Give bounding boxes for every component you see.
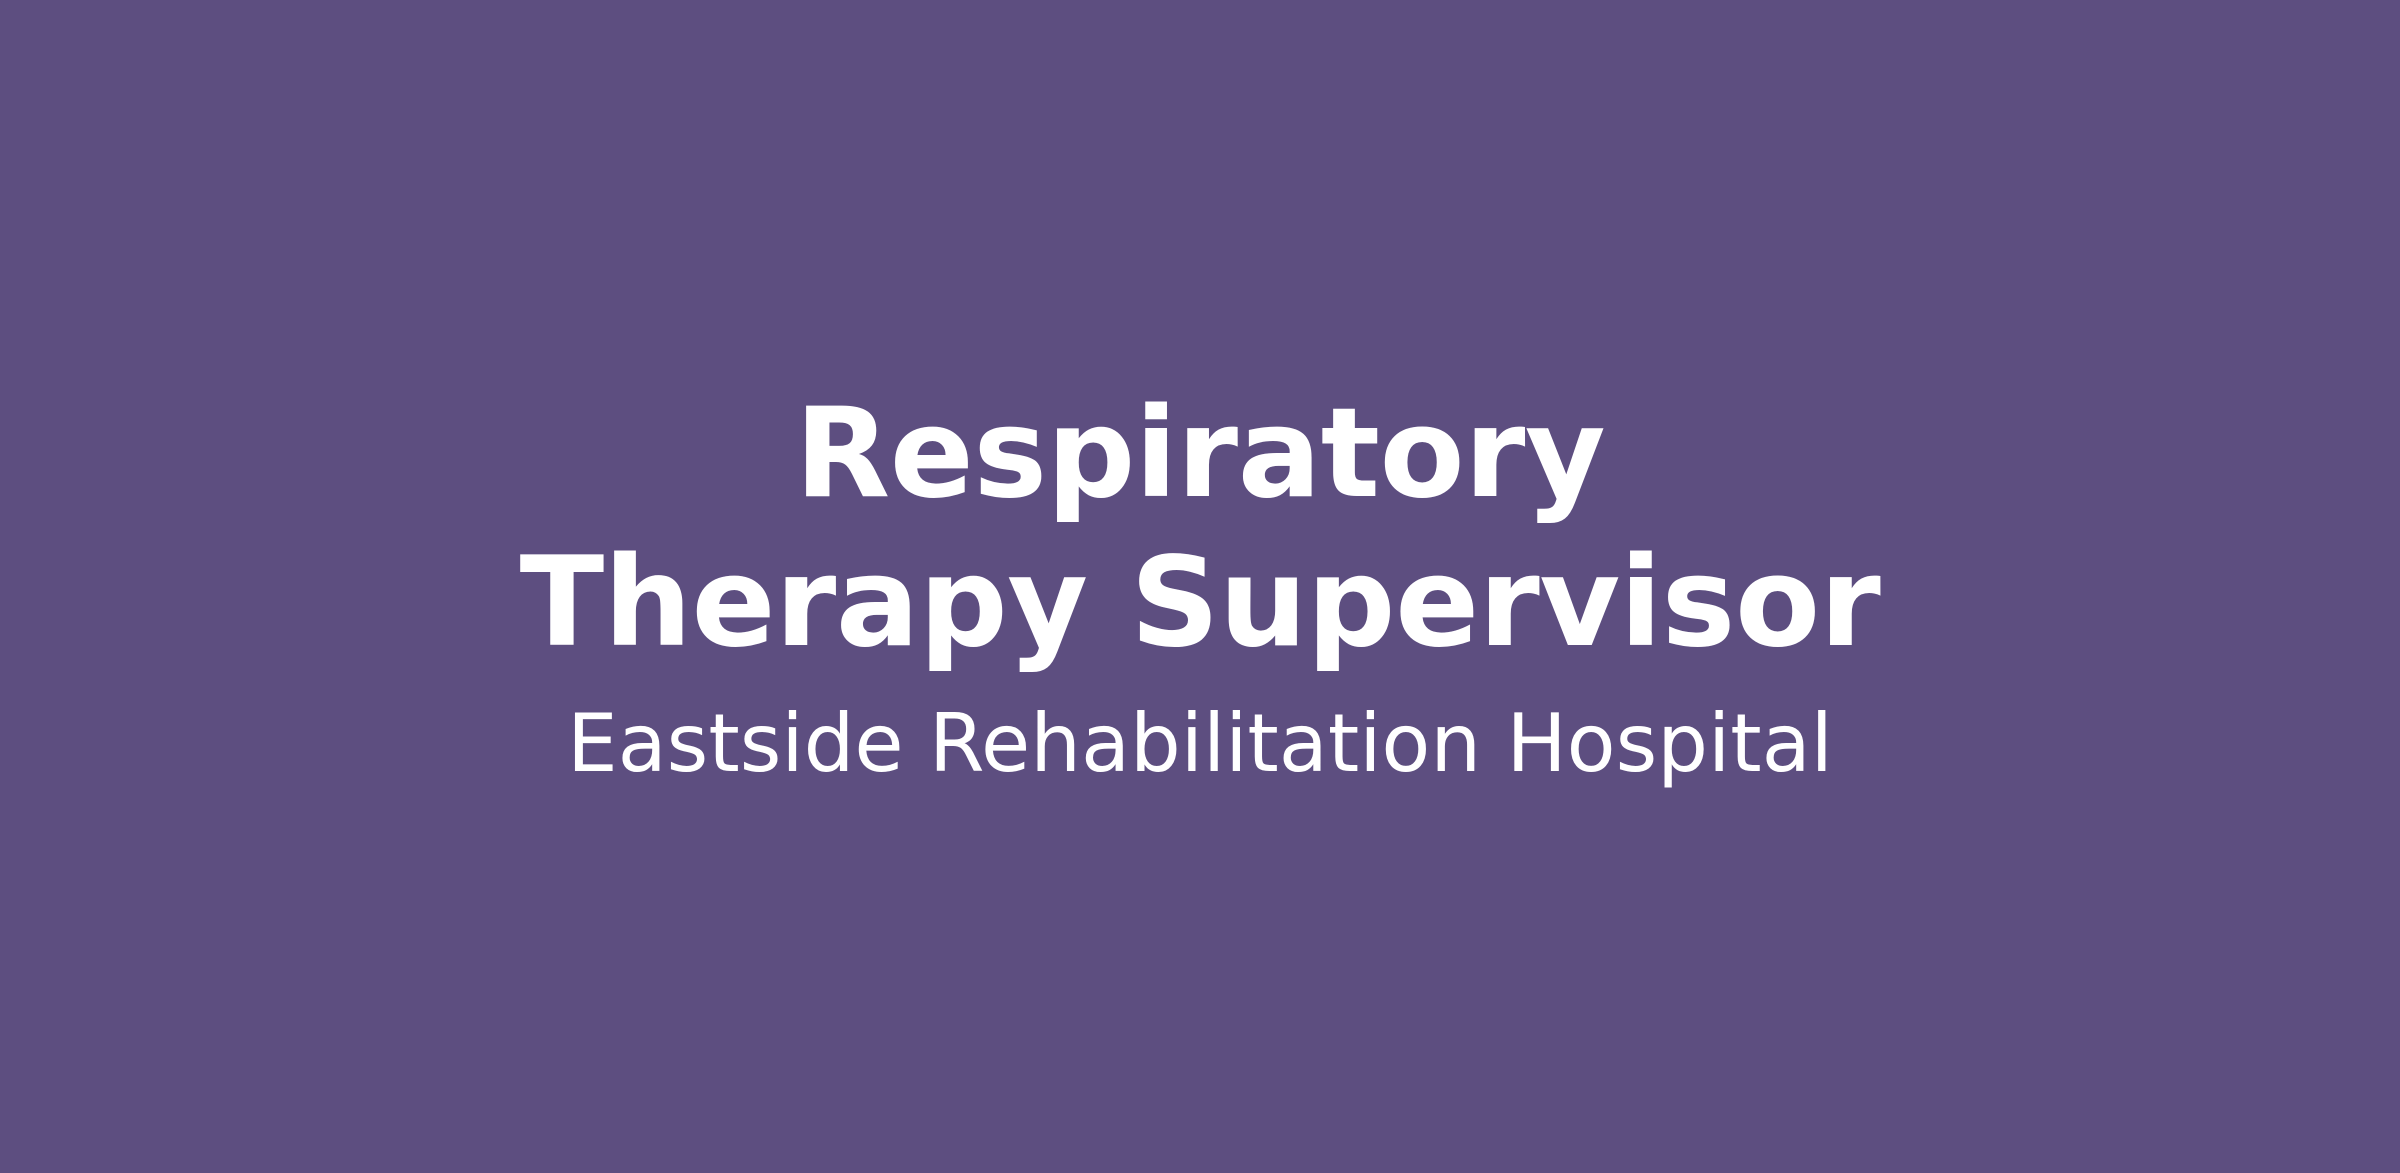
page-subtitle: Eastside Rehabilitation Hospital (350, 696, 2050, 792)
title-block: Respiratory Therapy Supervisor Eastside … (0, 380, 2400, 792)
page-title: Respiratory Therapy Supervisor (500, 380, 1900, 678)
title-slide: Respiratory Therapy Supervisor Eastside … (0, 0, 2400, 1173)
subtitle-wrap: Eastside Rehabilitation Hospital (350, 696, 2050, 792)
